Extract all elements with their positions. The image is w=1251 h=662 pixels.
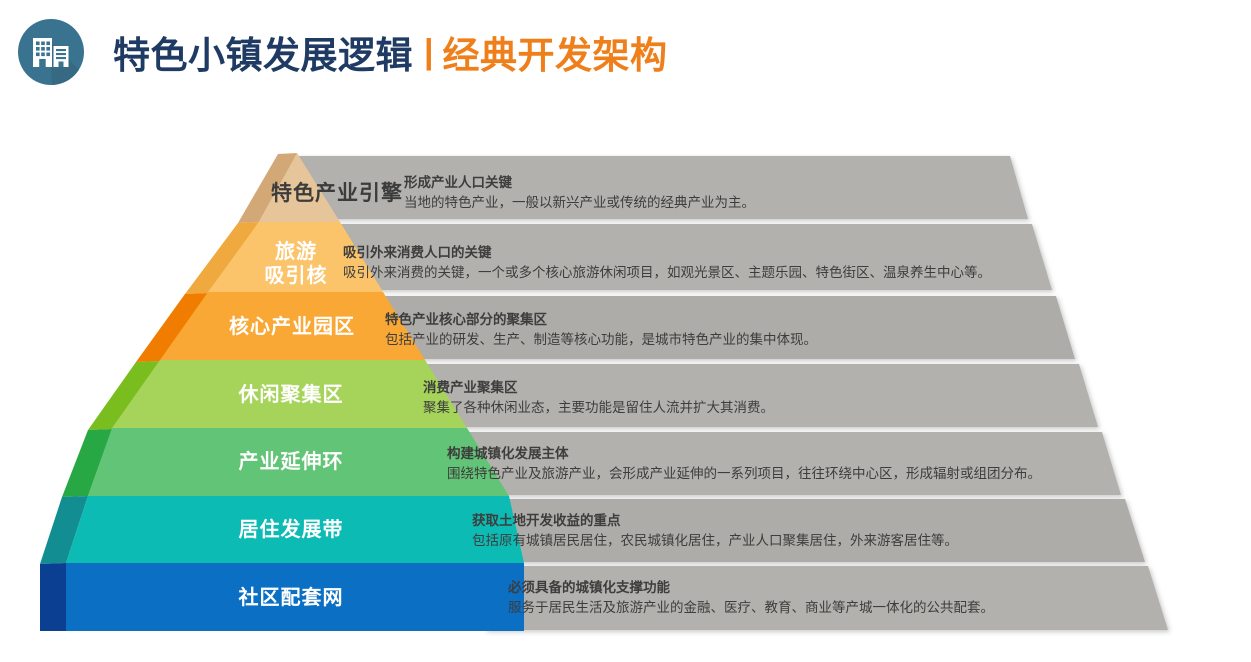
pyramid-band-7: [66, 563, 524, 631]
pyramid-band-5: [88, 428, 509, 496]
pyramid-band-6: [66, 496, 524, 563]
pyramid-layer: [0, 0, 1251, 662]
pyramid-diagram: 特色产业引擎 旅游 吸引核 核心产业园区 休闲聚集区 产业延伸环 居住发展带 社…: [0, 0, 1251, 662]
pyramid-band-4: [112, 360, 467, 428]
